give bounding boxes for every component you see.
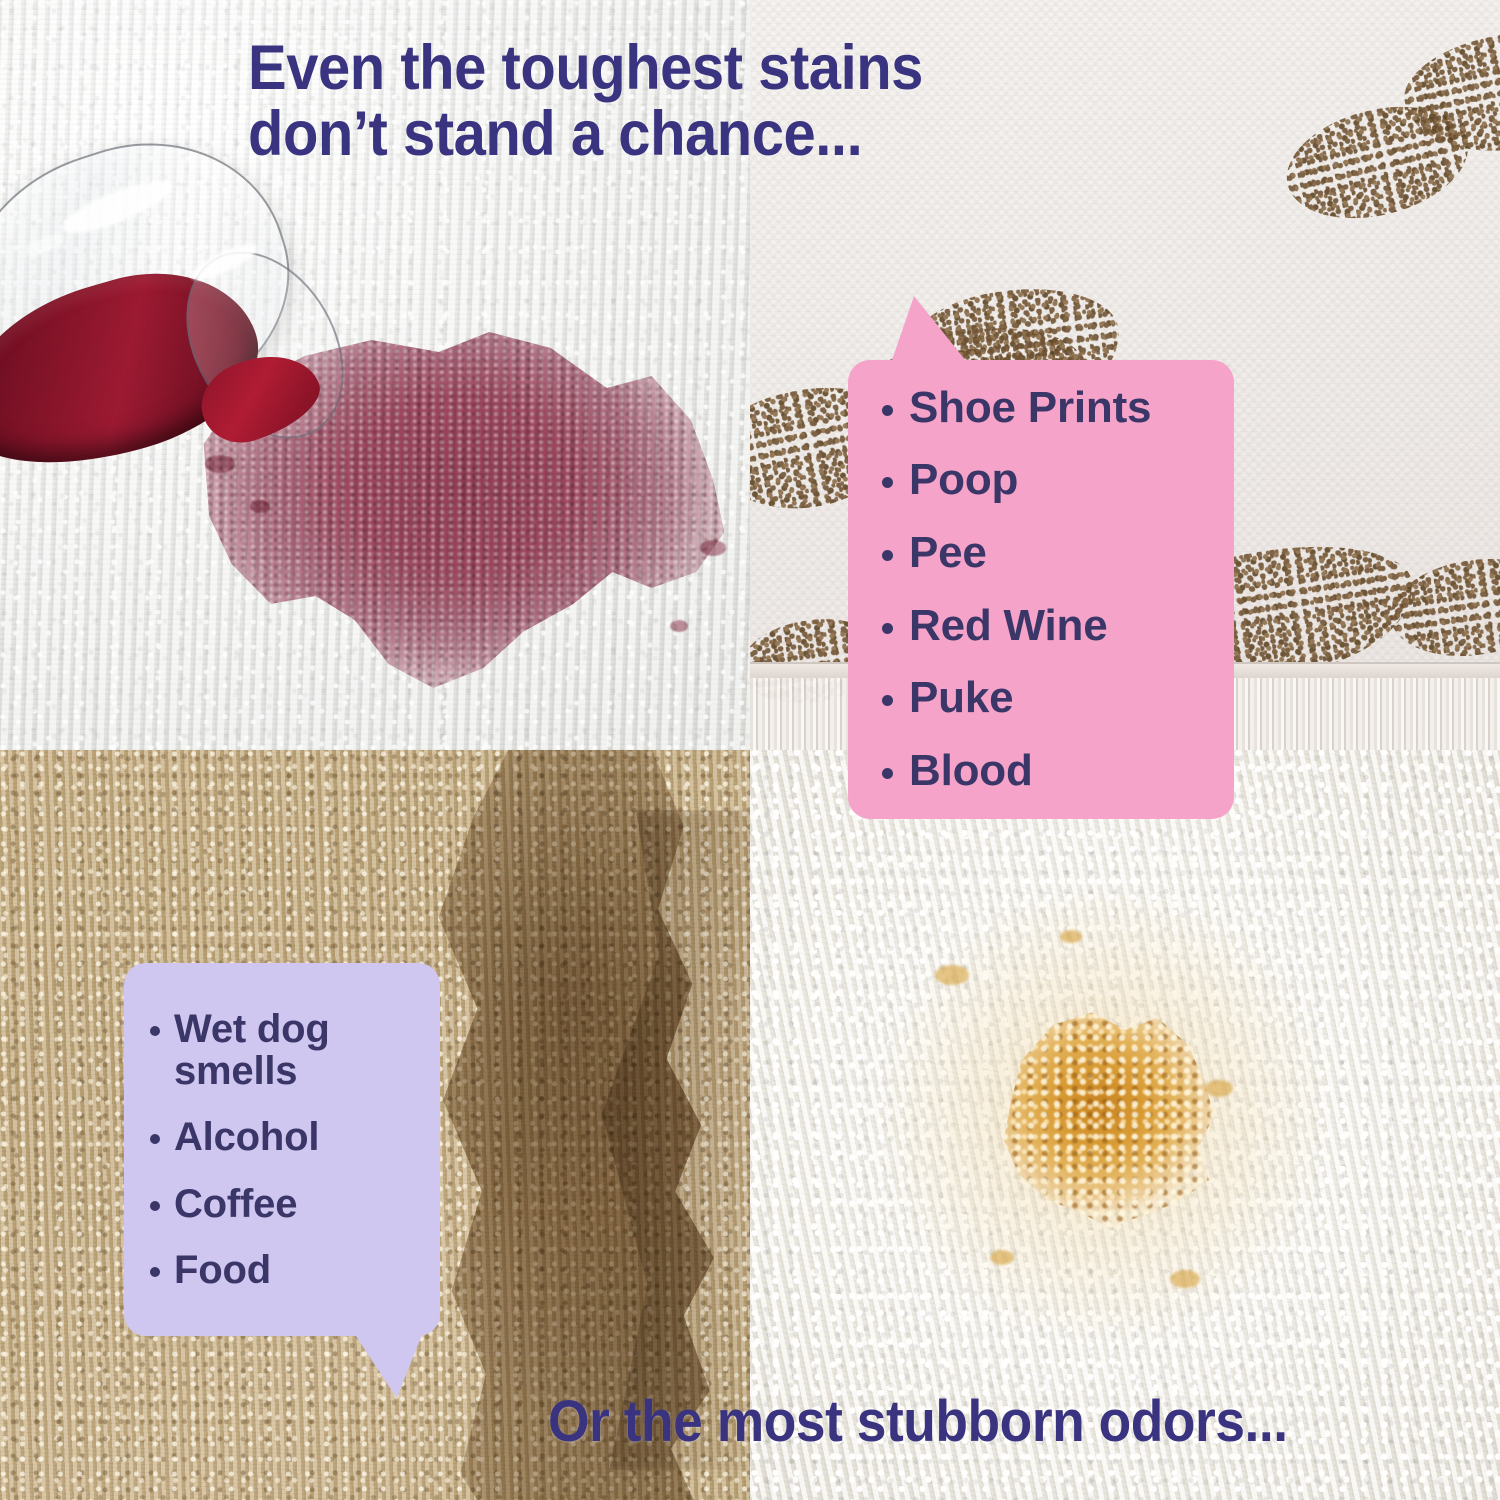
bullet-dot-icon [150,1201,160,1211]
list-item: Shoe Prints [882,385,1216,432]
list-item: Puke [882,675,1216,722]
stain-fleck [1060,930,1082,943]
stain-fleck [935,965,969,985]
list-item-label: Coffee [174,1183,297,1225]
list-item: Red Wine [882,603,1216,650]
list-item: Pee [882,530,1216,577]
list-item: Blood [882,748,1216,795]
list-item-label: Poop [909,457,1018,504]
top-headline: Even the toughest stains don’t stand a c… [248,36,923,167]
bottom-headline: Or the most stubborn odors... [548,1392,1288,1452]
odors-callout[interactable]: Wet dog smells Alcohol Coffee Food [124,963,440,1336]
wine-splatter [205,455,235,473]
infographic-canvas: Shoe Prints Poop Pee Red Wine Puke Blood [0,0,1500,1500]
list-item-label: Food [174,1249,271,1291]
list-item: Food [150,1249,426,1291]
bullet-dot-icon [882,623,893,634]
stain-fleck [1170,1270,1200,1288]
bullet-dot-icon [882,768,893,779]
list-item-label: Wet dog smells [174,1008,426,1093]
wine-splatter [670,620,688,632]
list-item: Coffee [150,1183,426,1225]
stain-fleck [990,1250,1014,1265]
bullet-dot-icon [882,477,893,488]
list-item: Alcohol [150,1116,426,1158]
stains-callout[interactable]: Shoe Prints Poop Pee Red Wine Puke Blood [848,360,1234,819]
list-item-label: Blood [909,748,1033,795]
bullet-dot-icon [150,1267,160,1277]
list-item: Poop [882,457,1216,504]
bullet-dot-icon [882,695,893,706]
wine-splatter [250,500,270,513]
photo-panel-vomit-stain [750,750,1500,1500]
list-item-label: Pee [909,530,987,577]
list-item-label: Shoe Prints [909,385,1151,432]
stain-fleck [1205,1080,1233,1097]
list-item-label: Red Wine [909,603,1107,650]
odors-list: Wet dog smells Alcohol Coffee Food [150,1008,426,1292]
stains-list: Shoe Prints Poop Pee Red Wine Puke Blood [882,385,1216,795]
bullet-dot-icon [882,550,893,561]
bullet-dot-icon [150,1026,160,1036]
list-item-label: Puke [909,675,1013,722]
bullet-dot-icon [882,405,893,416]
wine-splatter [700,540,726,556]
list-item: Wet dog smells [150,1008,426,1093]
bullet-dot-icon [150,1134,160,1144]
list-item-label: Alcohol [174,1116,319,1158]
